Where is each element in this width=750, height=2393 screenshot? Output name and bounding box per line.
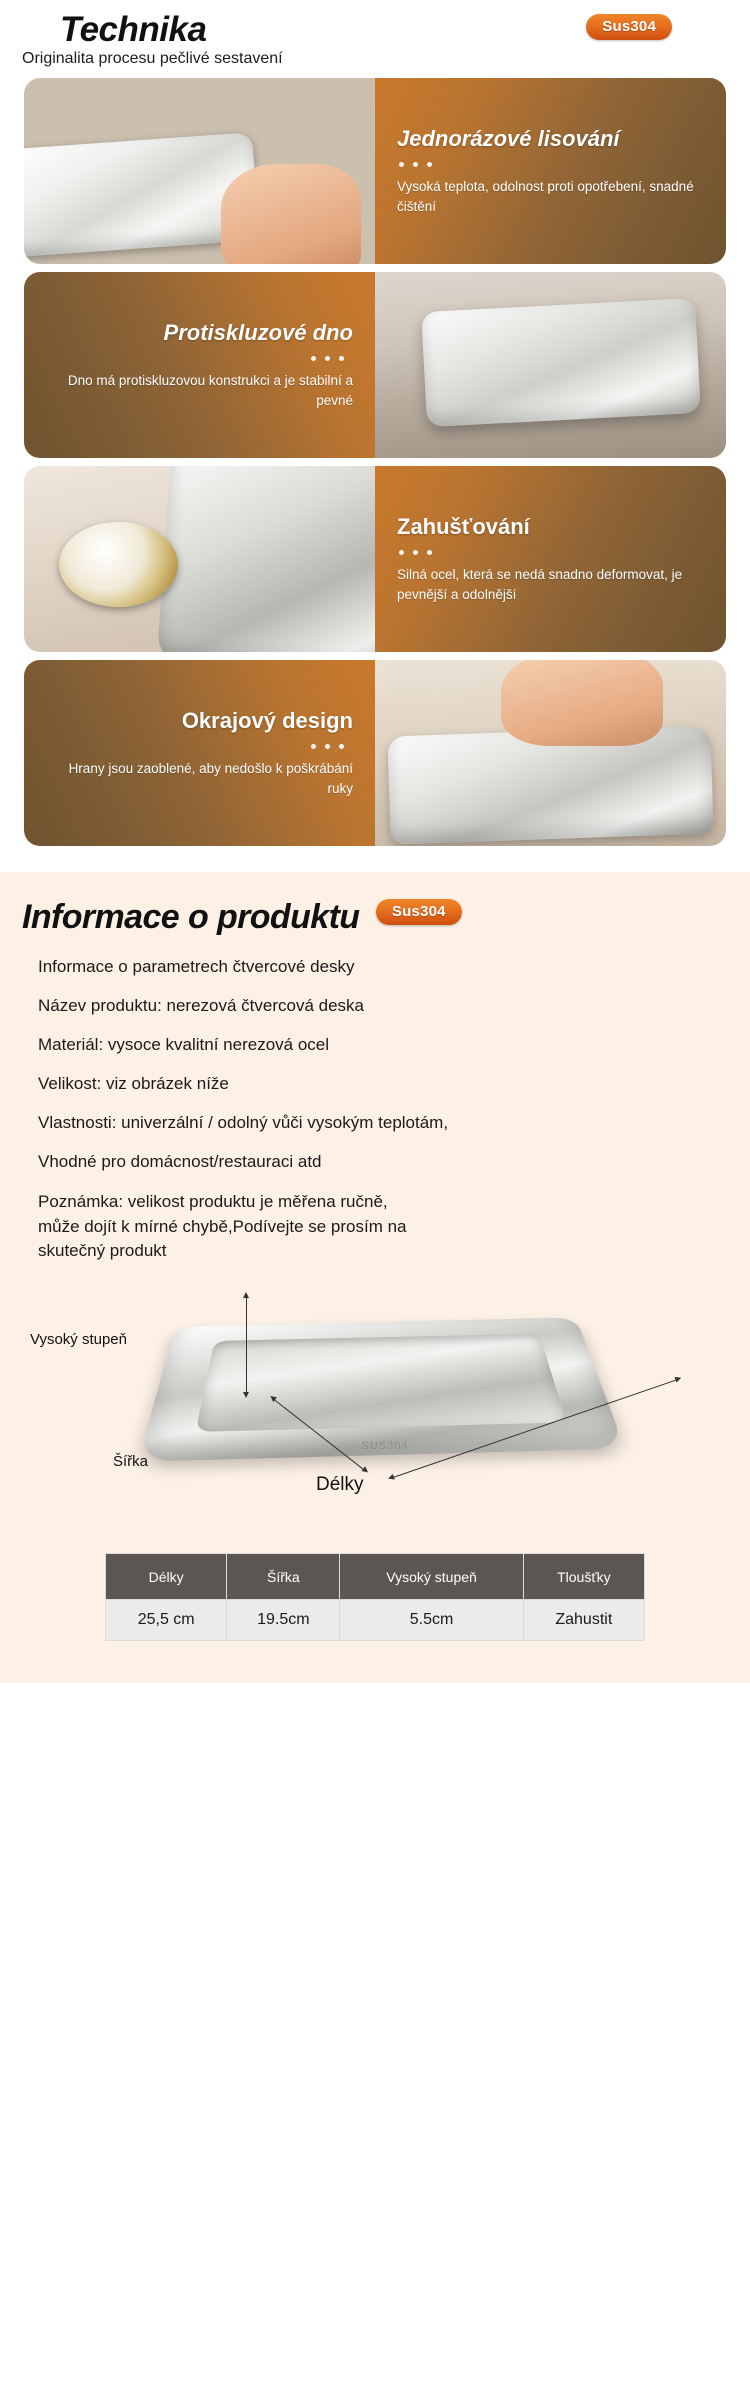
list-item: Vhodné pro domácnost/restauraci atd (38, 1151, 728, 1173)
dimension-label-height: Vysoký stupeň (30, 1331, 127, 1350)
feature-text-panel: Jednorázové lisování Vysoká teplota, odo… (375, 78, 726, 264)
feature-card: Zahušťování Silná ocel, která se nedá sn… (24, 466, 726, 652)
feature-card: Protiskluzové dno Dno má protiskluzovou … (24, 272, 726, 458)
dots-separator-icon (311, 744, 353, 749)
product-illustration: SUS304 (150, 1281, 620, 1496)
dots-separator-icon (399, 550, 704, 555)
dimension-diagram: SUS304 Vysoký stupeň Šířka Délky (0, 1277, 750, 1547)
table-cell: 5.5cm (340, 1600, 523, 1641)
table-cell: Zahustit (523, 1600, 644, 1641)
table-cell: 19.5cm (227, 1600, 340, 1641)
list-item: Vlastnosti: univerzální / odolný vůči vy… (38, 1112, 728, 1134)
table-header-cell: Délky (106, 1554, 227, 1600)
technika-section: Technika Sus304 Originalita procesu pečl… (0, 0, 750, 872)
tray-stamp-label: SUS304 (362, 1440, 409, 1452)
technika-subtitle: Originalita procesu pečlivé sestavení (22, 50, 283, 68)
feature-text-panel: Okrajový design Hrany jsou zaoblené, aby… (24, 660, 375, 846)
dimension-label-length: Délky (316, 1473, 364, 1497)
status-badge-sus304-info: Sus304 (376, 899, 462, 925)
table-header-cell: Šířka (227, 1554, 340, 1600)
feature-description: Vysoká teplota, odolnost proti opotřeben… (397, 177, 704, 215)
table-header-cell: Vysoký stupeň (340, 1554, 523, 1600)
status-badge-sus304-top: Sus304 (586, 14, 672, 40)
feature-card-list: Jednorázové lisování Vysoká teplota, odo… (24, 78, 726, 846)
product-info-section: Informace o produktu Sus304 Informace o … (0, 872, 750, 1683)
specification-table: Délky Šířka Vysoký stupeň Tloušťky 25,5 … (105, 1553, 645, 1641)
feature-photo (24, 78, 375, 264)
product-info-header: Informace o produktu Sus304 (0, 898, 750, 954)
height-arrow-icon (246, 1297, 247, 1393)
feature-description: Dno má protiskluzovou konstrukci a je st… (46, 371, 353, 409)
feature-description: Silná ocel, která se nedá snadno deformo… (397, 565, 704, 603)
list-item: Velikost: viz obrázek níže (38, 1073, 728, 1095)
feature-text-panel: Protiskluzové dno Dno má protiskluzovou … (24, 272, 375, 458)
table-header-row: Délky Šířka Vysoký stupeň Tloušťky (106, 1554, 645, 1600)
feature-card: Okrajový design Hrany jsou zaoblené, aby… (24, 660, 726, 846)
dots-separator-icon (399, 162, 704, 167)
table-row: 25,5 cm 19.5cm 5.5cm Zahustit (106, 1600, 645, 1641)
feature-card: Jednorázové lisování Vysoká teplota, odo… (24, 78, 726, 264)
product-detail-page: Technika Sus304 Originalita procesu pečl… (0, 0, 750, 1683)
dimension-label-width: Šířka (113, 1453, 148, 1472)
technika-header: Technika Sus304 Originalita procesu pečl… (0, 0, 750, 78)
note-line: skutečný produkt (38, 1240, 728, 1263)
feature-photo (375, 660, 726, 846)
feature-text-panel: Zahušťování Silná ocel, která se nedá sn… (375, 466, 726, 652)
feature-description: Hrany jsou zaoblené, aby nedošlo k poškr… (46, 759, 353, 797)
product-spec-list: Informace o parametrech čtvercové desky … (0, 954, 750, 1263)
list-item: Materiál: vysoce kvalitní nerezová ocel (38, 1034, 728, 1056)
feature-title: Zahušťování (397, 514, 704, 539)
feature-title: Protiskluzové dno (164, 320, 353, 345)
feature-title: Jednorázové lisování (397, 126, 704, 151)
table-cell: 25,5 cm (106, 1600, 227, 1641)
feature-photo (375, 272, 726, 458)
list-item: Název produktu: nerezová čtvercová deska (38, 995, 728, 1017)
list-item: Informace o parametrech čtvercové desky (38, 956, 728, 978)
page-title: Technika (60, 10, 206, 50)
tray-inner-icon (196, 1334, 567, 1432)
feature-title: Okrajový design (182, 708, 353, 733)
section-title: Informace o produktu (22, 898, 359, 937)
note-line: Poznámka: velikost produktu je měřena ru… (38, 1191, 728, 1214)
dots-separator-icon (311, 356, 353, 361)
note-line: může dojít k mírné chybě,Podívejte se pr… (38, 1216, 728, 1239)
table-header-cell: Tloušťky (523, 1554, 644, 1600)
feature-photo (24, 466, 375, 652)
